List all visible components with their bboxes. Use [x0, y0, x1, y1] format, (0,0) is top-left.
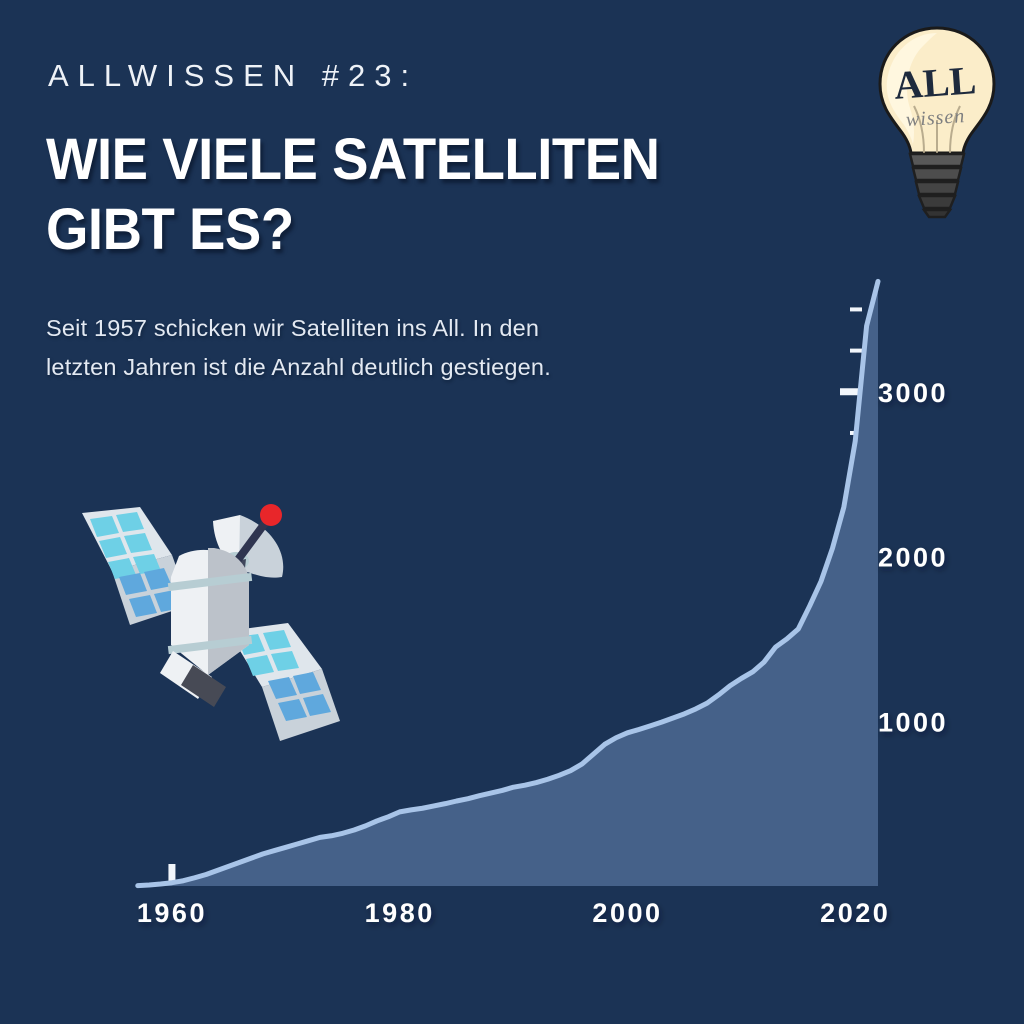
- antenna-tip: [260, 504, 282, 526]
- x-tick-label: 1960: [137, 898, 207, 928]
- x-tick-label: 2000: [592, 898, 662, 928]
- kicker-text: ALLWISSEN #23:: [48, 58, 418, 94]
- headline-line-2: GIBT ES?: [46, 195, 798, 265]
- logo-wordmark: ALL: [892, 57, 977, 108]
- y-axis-labels: 100020003000: [878, 378, 948, 737]
- y-tick-label: 2000: [878, 543, 948, 573]
- x-tick-label: 1980: [365, 898, 435, 928]
- satellite-body: [160, 548, 252, 707]
- intro-paragraph: Seit 1957 schicken wir Satelliten ins Al…: [46, 309, 606, 388]
- satellite-illustration: [40, 485, 370, 750]
- y-tick-label: 3000: [878, 378, 948, 408]
- satellite-icon: [82, 504, 340, 741]
- headline-line-1: WIE VIELE SATELLITEN: [46, 125, 798, 195]
- infographic-canvas: 1960198020002020 100020003000 ALLWISSEN …: [0, 0, 1024, 1024]
- logo-script-word: wissen: [905, 105, 966, 131]
- allwissen-logo[interactable]: ALL wissen: [862, 24, 1012, 220]
- x-axis-labels: 1960198020002020: [137, 898, 890, 928]
- x-tick-label: 2020: [820, 898, 890, 928]
- bulb-base: [910, 154, 964, 217]
- y-tick-label: 1000: [878, 707, 948, 737]
- page-title: WIE VIELE SATELLITEN GIBT ES?: [46, 125, 846, 265]
